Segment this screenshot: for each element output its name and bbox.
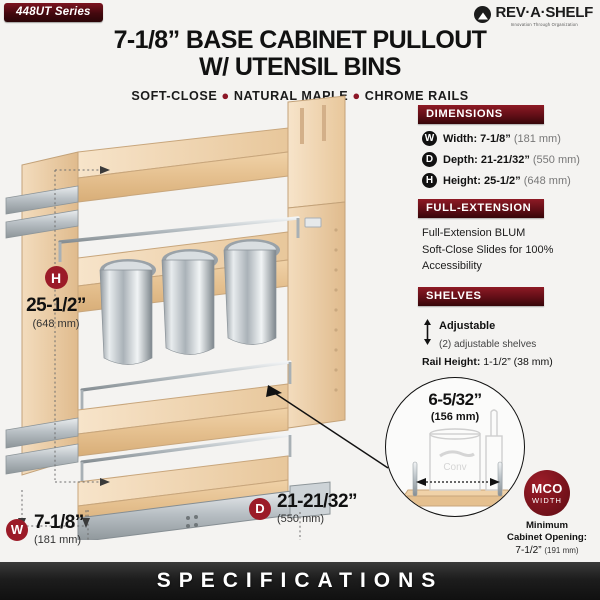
rail-height-value: 1-1/2” (38 mm) bbox=[483, 356, 552, 368]
height-value: 25-1/2” bbox=[484, 175, 521, 187]
shelves-heading: SHELVES bbox=[418, 287, 544, 306]
rail-height-label: Rail Height: bbox=[422, 356, 480, 368]
width-callout-badge-icon: W bbox=[6, 519, 28, 541]
height-text: Height: 25-1/2” (648 mm) bbox=[443, 175, 571, 187]
mco-callout: MCO WIDTH Minimum Cabinet Opening: 7-1/2… bbox=[497, 470, 597, 556]
mco-badge-line-1: MCO bbox=[531, 482, 562, 495]
height-callout-value: 25-1/2” bbox=[8, 295, 104, 317]
brand-mark-icon bbox=[474, 6, 491, 23]
dimension-row-height: H Height: 25-1/2” (648 mm) bbox=[422, 173, 592, 188]
mco-mm: (191 mm) bbox=[544, 546, 578, 555]
mco-badge-line-2: WIDTH bbox=[532, 497, 562, 505]
mco-value-row: 7-1/2” (191 mm) bbox=[497, 545, 597, 556]
full-extension-line-3: Accessibility bbox=[422, 258, 592, 275]
width-callout-mm: (181 mm) bbox=[34, 534, 84, 546]
width-text: Width: 7-1/8” (181 mm) bbox=[443, 133, 561, 145]
mco-badge-icon: MCO WIDTH bbox=[524, 470, 570, 516]
adjustable-title: Adjustable bbox=[439, 320, 495, 332]
adjustable-sub: (2) adjustable shelves bbox=[439, 339, 536, 350]
width-badge-icon: W bbox=[422, 131, 437, 146]
height-label: Height: bbox=[443, 175, 481, 187]
dimension-row-width: W Width: 7-1/8” (181 mm) bbox=[422, 131, 592, 146]
brand-logo: REV·A·SHELF Innovation Through Organizat… bbox=[474, 5, 593, 27]
dimensions-body: W Width: 7-1/8” (181 mm) D Depth: 21-21/… bbox=[418, 124, 594, 188]
footer-banner: SPECIFICATIONS bbox=[0, 562, 600, 600]
full-extension-heading: FULL-EXTENSION bbox=[418, 199, 544, 218]
width-label: Width: bbox=[443, 133, 477, 145]
mco-label-line-2: Cabinet Opening: bbox=[497, 532, 597, 544]
depth-dimension-callout: D 21-21/32” (550 mm) bbox=[249, 492, 357, 525]
dimension-row-depth: D Depth: 21-21/32” (550 mm) bbox=[422, 152, 592, 167]
detail-callout-mm: (156 mm) bbox=[386, 411, 524, 423]
depth-text: Depth: 21-21/32” (550 mm) bbox=[443, 154, 580, 166]
depth-callout-badge-icon: D bbox=[249, 498, 271, 520]
full-extension-body: Full-Extension BLUM Soft-Close Slides fo… bbox=[418, 218, 594, 275]
svg-text:Conv: Conv bbox=[443, 462, 466, 473]
full-extension-line-2: Soft-Close Slides for 100% bbox=[422, 242, 592, 259]
full-extension-line-1: Full-Extension BLUM bbox=[422, 225, 592, 242]
adjustable-shelves-row: Adjustable (2) adjustable shelves bbox=[422, 316, 592, 353]
depth-value: 21-21/32” bbox=[481, 154, 530, 166]
height-callout-badge-icon: H bbox=[45, 266, 68, 289]
dimensions-heading: DIMENSIONS bbox=[418, 105, 544, 124]
mco-value: 7-1/2” bbox=[515, 545, 541, 556]
shelves-body: Adjustable (2) adjustable shelves Rail H… bbox=[418, 306, 594, 369]
height-callout-mm: (648 mm) bbox=[8, 318, 104, 330]
title-line-1: 7-1/8” BASE CABINET PULLOUT bbox=[0, 27, 600, 54]
depth-callout-value: 21-21/32” bbox=[277, 492, 357, 511]
depth-mm: (550 mm) bbox=[533, 154, 580, 166]
depth-label: Depth: bbox=[443, 154, 478, 166]
depth-callout-mm: (550 mm) bbox=[277, 513, 357, 525]
series-badge: 448UT Series bbox=[4, 3, 103, 22]
depth-badge-icon: D bbox=[422, 152, 437, 167]
width-value: 7-1/8” bbox=[480, 133, 511, 145]
up-down-arrow-icon bbox=[422, 316, 433, 347]
title-line-2: W/ UTENSIL BINS bbox=[0, 54, 600, 81]
mco-label-line-1: Minimum bbox=[497, 520, 597, 532]
height-mm: (648 mm) bbox=[524, 175, 571, 187]
brand-wordmark: REV·A·SHELF Innovation Through Organizat… bbox=[495, 5, 593, 27]
brand-name: REV·A·SHELF bbox=[495, 4, 593, 21]
footer-title: SPECIFICATIONS bbox=[157, 569, 444, 593]
width-callout-value: 7-1/8” bbox=[34, 513, 84, 532]
width-mm: (181 mm) bbox=[514, 133, 561, 145]
specifications-panel: DIMENSIONS W Width: 7-1/8” (181 mm) D De… bbox=[418, 104, 594, 368]
height-badge-icon: H bbox=[422, 173, 437, 188]
rail-height-row: Rail Height: 1-1/2” (38 mm) bbox=[422, 356, 592, 368]
detail-callout-value: 6-5/32” bbox=[386, 390, 524, 410]
width-dimension-callout: W 7-1/8” (181 mm) bbox=[6, 513, 84, 546]
height-dimension-callout: H 25-1/2” (648 mm) bbox=[8, 266, 104, 330]
